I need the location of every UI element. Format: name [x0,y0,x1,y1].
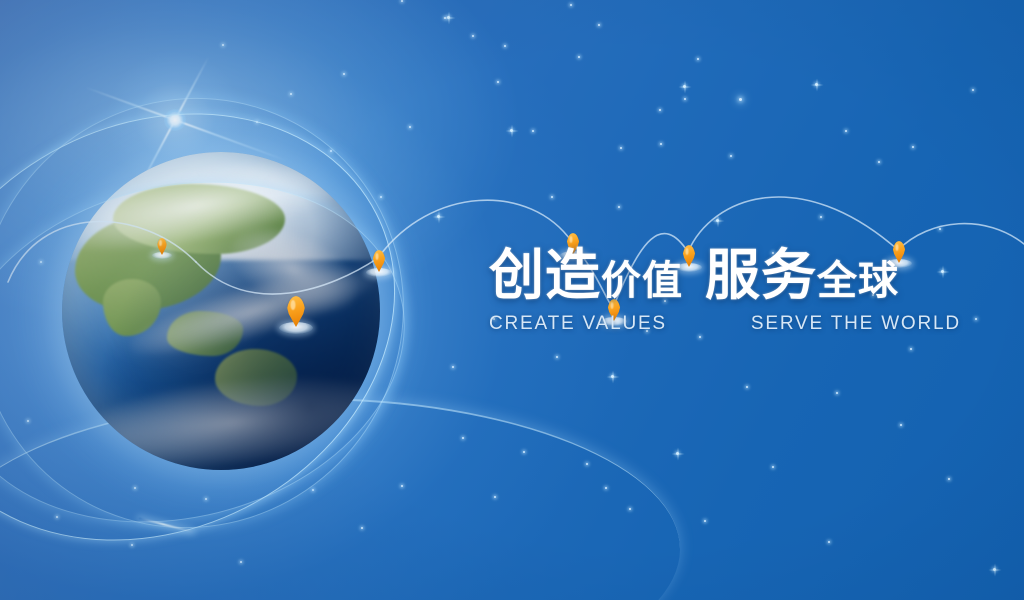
background-vignette [0,0,1024,600]
banner-stage: 创造价值服务全球 CREATE VALUESSERVE THE WORLD [0,0,1024,600]
